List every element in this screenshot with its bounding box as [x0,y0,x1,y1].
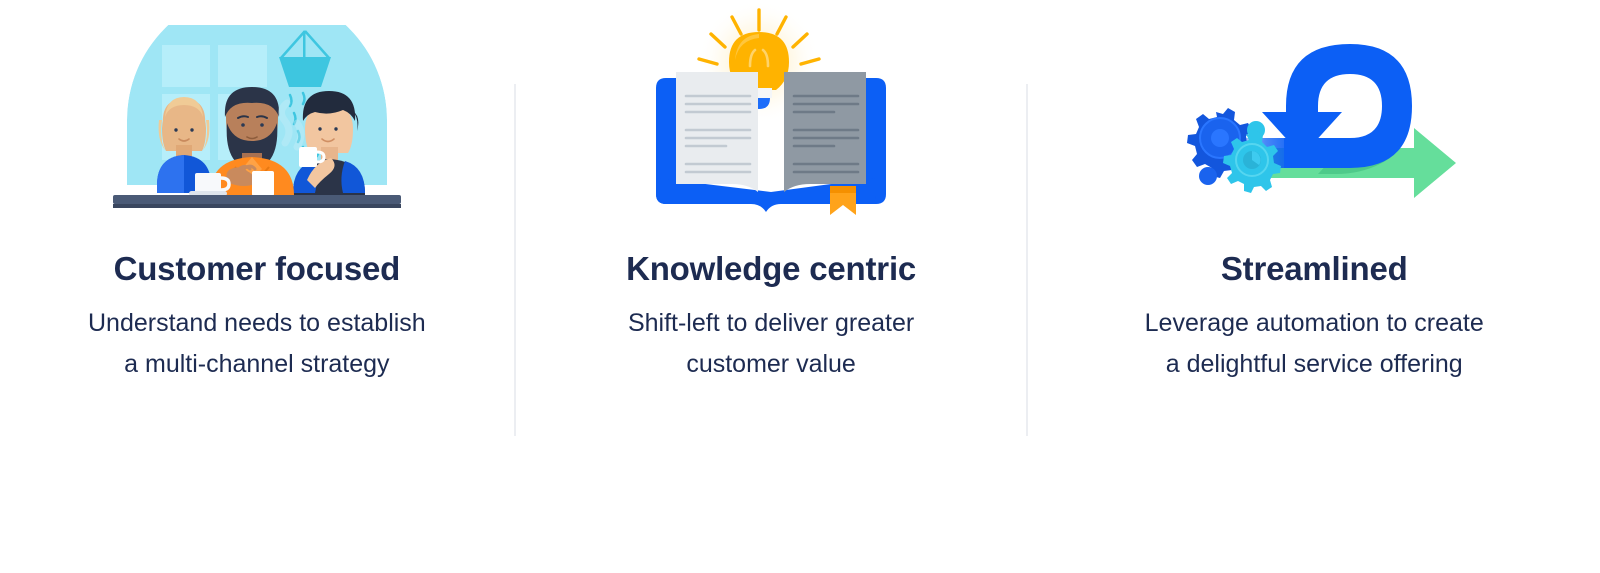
gear-dot-bottom [1199,167,1217,185]
table-edge [113,204,401,208]
column-title: Streamlined [1221,251,1408,287]
team-meeting-illustration [0,0,514,215]
feature-column-streamlined: Streamlined Leverage automation to creat… [1028,0,1600,470]
column-title: Customer focused [114,251,401,287]
book-page-left [676,72,758,192]
open-book-lightbulb-svg [646,0,896,215]
bookmark-ribbon [830,186,856,215]
table-top [113,195,401,204]
column-title: Knowledge centric [626,251,916,287]
feature-columns-section: Customer focused Understand needs to est… [0,0,1600,573]
column-description: Leverage automation to create a delightf… [1145,303,1484,384]
feature-column-knowledge-centric: Knowledge centric Shift-left to deliver … [516,0,1027,470]
loop-arrow-gears-illustration [1028,0,1600,215]
loop-arrow-gears-svg [1164,20,1464,215]
columns-row: Customer focused Understand needs to est… [0,0,1600,470]
column-description: Shift-left to deliver greater customer v… [628,303,914,384]
feature-column-customer-focused: Customer focused Understand needs to est… [0,0,514,470]
book-page-right [784,72,866,192]
team-meeting-svg [107,25,407,215]
open-book-lightbulb-illustration [516,0,1027,215]
gear-cluster [1187,108,1281,193]
column-description: Understand needs to establish a multi-ch… [88,303,426,384]
